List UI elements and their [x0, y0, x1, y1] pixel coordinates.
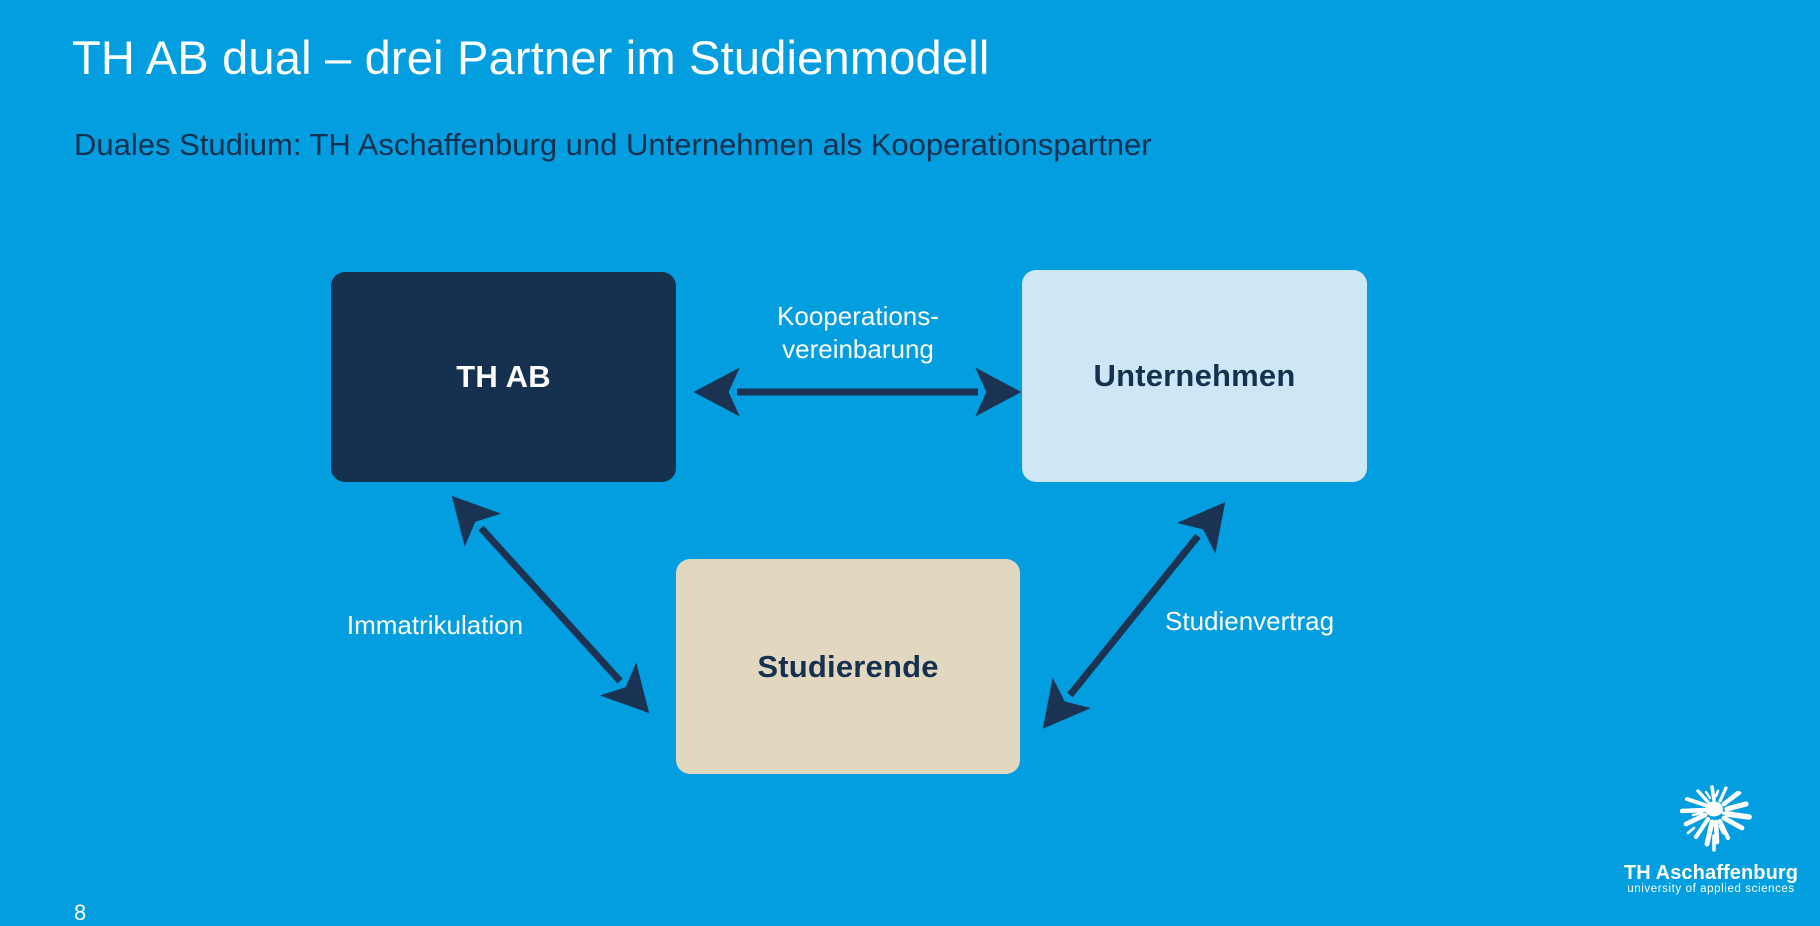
logo-tagline: university of applied sciences — [1616, 883, 1806, 896]
edge-label-immatrikulation: Immatrikulation — [330, 609, 540, 642]
th-aschaffenburg-logo: TH Aschaffenburg university of applied s… — [1616, 782, 1806, 904]
node-unternehmen[interactable]: Unternehmen — [1022, 270, 1367, 482]
slide-canvas: TH AB dual – drei Partner im Studienmode… — [0, 0, 1820, 910]
starburst-icon — [1654, 782, 1778, 866]
node-unternehmen-label: Unternehmen — [1093, 358, 1295, 394]
node-th-ab-label: TH AB — [456, 359, 551, 395]
partner-model-diagram: Unternehmen (horizontal) --> Studierende… — [0, 0, 1820, 910]
logo-name: TH Aschaffenburg — [1616, 862, 1806, 884]
node-th-ab[interactable]: TH AB — [331, 272, 676, 482]
node-studierende[interactable]: Studierende — [676, 559, 1020, 774]
node-studierende-label: Studierende — [757, 649, 938, 685]
edge-label-kooperationsvereinbarung: Kooperations- vereinbarung — [730, 300, 986, 366]
arrow-immatrikulation — [481, 528, 620, 681]
edge-label-studienvertrag: Studienvertrag — [1165, 605, 1365, 638]
page-number: 8 — [74, 900, 86, 926]
